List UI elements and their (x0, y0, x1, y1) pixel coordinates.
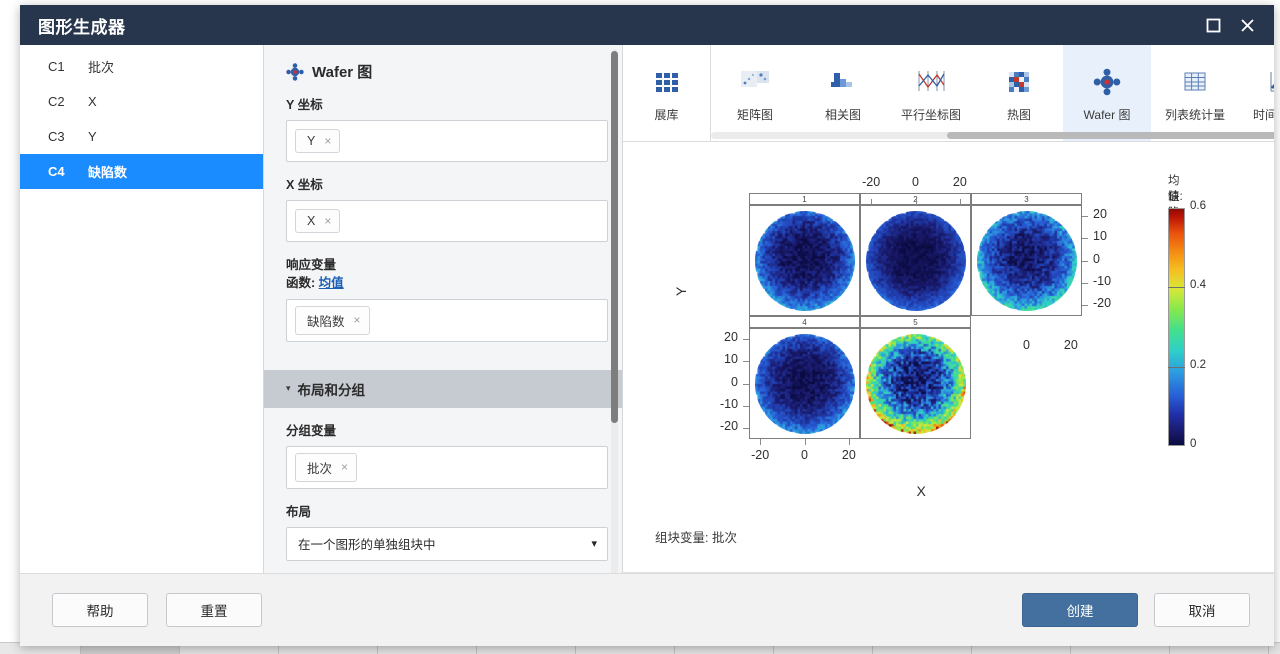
colorbar-tick (1168, 367, 1185, 368)
column-name: Y (88, 129, 263, 144)
colorbar-tick (1168, 287, 1185, 288)
gallery-item-matrix-plot[interactable]: 矩阵图 (711, 45, 799, 141)
chart-caption: 组块变量: 批次 (655, 527, 737, 546)
column-name: 缺陷数 (88, 162, 263, 181)
colorbar-tick-label: 0.4 (1190, 279, 1206, 291)
gallery-item-label: 时间序列图 (1253, 106, 1274, 123)
x-axis-tick-label-bottom: 0 (801, 448, 808, 462)
chip-group[interactable]: 批次 × (295, 453, 357, 482)
maximize-icon[interactable] (1196, 8, 1230, 42)
variable-column-list[interactable]: C1 批次 C2 X C3 Y C4 缺陷数 (20, 45, 264, 573)
colorbar-gradient (1168, 208, 1185, 446)
wafer-map-icon (286, 63, 304, 81)
function-row: 函数: 均值 (286, 274, 608, 292)
x-axis-field[interactable]: X × (286, 200, 608, 242)
chip-remove-icon[interactable]: × (341, 461, 348, 473)
wafer-disc (977, 211, 1077, 311)
x-axis-tick-label-bottom: 20 (842, 448, 856, 462)
x-axis-tick-top (871, 199, 872, 205)
dialog-body: C1 批次 C2 X C3 Y C4 缺陷数 (20, 45, 1274, 573)
panel-heading-text: Wafer 图 (312, 61, 372, 82)
wafer-map-icon (1093, 67, 1121, 97)
response-label-text: 响应变量 (286, 256, 608, 274)
gallery-scrollbar-thumb[interactable] (947, 132, 1274, 139)
help-button[interactable]: 帮助 (52, 593, 148, 627)
y-axis-tick-label-left: 10 (724, 352, 738, 366)
wafer-disc (755, 334, 855, 434)
y-axis-tick-left (743, 339, 749, 340)
y-axis-tick-label-right: 0 (1093, 252, 1100, 266)
table-statistics-icon (1181, 67, 1209, 97)
chip-label: X (307, 214, 315, 228)
layout-select-label: 布局 (286, 503, 608, 521)
chip-x[interactable]: X × (295, 209, 340, 233)
dialog-title: 图形生成器 (38, 13, 1196, 38)
chip-remove-icon[interactable]: × (354, 314, 361, 326)
column-list-item-c4[interactable]: C4 缺陷数 (20, 154, 263, 189)
gallery-item-time-series[interactable]: 时间序列图 (1239, 45, 1274, 141)
create-button[interactable]: 创建 (1022, 593, 1138, 627)
x-axis-tick-top (916, 199, 917, 205)
parallel-coordinates-icon (915, 67, 947, 97)
y-axis-tick-label-right: 10 (1093, 229, 1107, 243)
x-axis-tick-label-top: 0 (912, 175, 919, 189)
chart-settings-scroll-area[interactable]: Wafer 图 Y 坐标 Y × X 坐标 X × (264, 45, 622, 573)
layout-select-value: 在一个图形的单独组块中 (298, 534, 436, 553)
y-axis-field-label: Y 坐标 (286, 96, 608, 114)
primary-fields-group: Wafer 图 Y 坐标 Y × X 坐标 X × (264, 45, 622, 370)
response-field-label: 响应变量 函数: 均值 (286, 256, 608, 292)
group-field[interactable]: 批次 × (286, 446, 608, 489)
column-list-item-c2[interactable]: C2 X (20, 84, 263, 119)
function-link[interactable]: 均值 (319, 276, 344, 290)
y-axis-tick-label-right: -20 (1093, 296, 1111, 310)
y-axis-tick-left (743, 428, 749, 429)
preview-panel: 展库 矩阵图 (623, 45, 1274, 573)
settings-scrollbar-track[interactable] (611, 49, 618, 573)
gallery-item-label: 展库 (654, 106, 678, 123)
y-axis-tick-label-left: 0 (731, 375, 738, 389)
y-axis-tick-left (743, 361, 749, 362)
close-icon[interactable] (1230, 8, 1264, 42)
y-axis-tick-label-left: -20 (720, 419, 738, 433)
colorbar-tick-label: 0.2 (1190, 359, 1206, 371)
y-axis-tick-left (743, 384, 749, 385)
y-axis-tick-right (1082, 283, 1088, 284)
group-field-label: 分组变量 (286, 422, 608, 440)
y-axis-tick-right (1082, 238, 1088, 239)
gallery-item-label: 相关图 (825, 106, 861, 123)
gallery-scrollbar-track[interactable] (711, 132, 1274, 139)
collapse-triangle-icon[interactable]: ▾ (286, 384, 291, 393)
y-axis-tick-label-right: 20 (1093, 207, 1107, 221)
time-series-icon (1268, 67, 1274, 97)
gallery-item-heatmap[interactable]: 热图 (975, 45, 1063, 141)
chip-remove-icon[interactable]: × (324, 215, 331, 227)
gallery-item-table-statistics[interactable]: 列表统计量 (1151, 45, 1239, 141)
column-list-item-c1[interactable]: C1 批次 (20, 49, 263, 84)
wafer-disc (866, 334, 966, 434)
section-title: 布局和分组 (298, 379, 366, 399)
dialog-footer: 帮助 重置 创建 取消 (20, 573, 1274, 646)
column-id: C2 (20, 94, 88, 109)
x-axis-tick-label-top: 20 (953, 175, 967, 189)
wafer-map-chart: 12345-20020-20020X-20-1001020-20-1001020… (623, 142, 1274, 572)
chart-type-gallery[interactable]: 展库 矩阵图 (623, 45, 1274, 142)
graph-builder-dialog: 图形生成器 C1 批次 C2 X C3 Y C4 缺陷数 (20, 5, 1274, 646)
settings-scrollbar-thumb[interactable] (611, 51, 618, 423)
heatmap-icon (1005, 67, 1033, 97)
reset-button[interactable]: 重置 (166, 593, 262, 627)
function-prefix: 函数: (286, 276, 315, 290)
gallery-item-label: 热图 (1007, 106, 1031, 123)
y-axis-field[interactable]: Y × (286, 120, 608, 162)
matrix-plot-icon (740, 67, 770, 97)
x-axis-tick-label-top: -20 (862, 175, 880, 189)
y-axis-tick-right (1082, 216, 1088, 217)
chart-preview: 12345-20020-20020X-20-1001020-20-1001020… (623, 142, 1274, 573)
panel-heading: Wafer 图 (286, 45, 608, 96)
panel-strip-label: 3 (971, 193, 1082, 205)
gallery-item-correlogram[interactable]: 相关图 (799, 45, 887, 141)
gallery-item-label: 矩阵图 (737, 106, 773, 123)
dialog-titlebar[interactable]: 图形生成器 (20, 5, 1274, 45)
x-axis-tick-bottom (760, 439, 761, 445)
x-axis-tick-top (960, 199, 961, 205)
gallery-item-gallery[interactable]: 展库 (623, 45, 711, 141)
colorbar-tick-label: 0.6 (1190, 200, 1206, 212)
chip-remove-icon[interactable]: × (324, 135, 331, 147)
chip-label: 缺陷数 (307, 311, 345, 330)
layout-select[interactable]: 在一个图形的单独组块中 ▾ (286, 527, 608, 561)
y-axis-tick-left (743, 406, 749, 407)
colorbar-tick-label: 0 (1190, 438, 1196, 450)
gallery-item-wafer-map[interactable]: Wafer 图 (1063, 45, 1151, 141)
column-name: X (88, 94, 263, 109)
x-axis-tick-bottom (805, 439, 806, 445)
x-axis-tick-label-bottom: -20 (751, 448, 769, 462)
y-axis-title: Y (673, 287, 689, 296)
gallery-item-parallel-coordinates[interactable]: 平行坐标图 (887, 45, 975, 141)
gallery-item-label: 列表统计量 (1165, 106, 1225, 123)
chevron-down-icon[interactable]: ▾ (591, 537, 597, 550)
grid-gallery-icon (654, 67, 680, 97)
chip-label: Y (307, 134, 315, 148)
gallery-item-label: 平行坐标图 (901, 106, 961, 123)
grouping-fields-group: 分组变量 批次 × 布局 在一个图形的单独组块中 ▾ (264, 408, 622, 574)
wafer-disc (755, 211, 855, 311)
y-axis-tick-label-left: 20 (724, 330, 738, 344)
correlogram-icon (828, 67, 858, 97)
x-axis-title: X (917, 483, 926, 499)
column-id: C3 (20, 129, 88, 144)
x-axis-tick-label-right-block: 20 (1064, 338, 1078, 352)
cancel-button[interactable]: 取消 (1154, 593, 1250, 627)
y-axis-tick-label-right: -10 (1093, 274, 1111, 288)
x-axis-field-label: X 坐标 (286, 176, 608, 194)
chip-response[interactable]: 缺陷数 × (295, 306, 370, 335)
y-axis-tick-right (1082, 261, 1088, 262)
chip-label: 批次 (307, 458, 332, 477)
wafer-disc (866, 211, 966, 311)
gallery-item-label: Wafer 图 (1084, 106, 1131, 123)
chip-y[interactable]: Y × (295, 129, 340, 153)
column-list-item-c3[interactable]: C3 Y (20, 119, 263, 154)
panel-strip-label: 5 (860, 316, 971, 328)
y-axis-tick-label-left: -10 (720, 397, 738, 411)
x-axis-tick-label-right-block: 0 (1023, 338, 1030, 352)
column-id: C4 (20, 164, 88, 179)
column-id: C1 (20, 59, 88, 74)
panel-strip-label: 4 (749, 316, 860, 328)
chart-settings-panel: Wafer 图 Y 坐标 Y × X 坐标 X × (264, 45, 623, 573)
panel-strip-label: 1 (749, 193, 860, 205)
column-name: 批次 (88, 57, 263, 76)
response-field[interactable]: 缺陷数 × (286, 299, 608, 342)
section-layout-and-grouping[interactable]: ▾ 布局和分组 (264, 370, 622, 408)
x-axis-tick-bottom (849, 439, 850, 445)
y-axis-tick-right (1082, 305, 1088, 306)
